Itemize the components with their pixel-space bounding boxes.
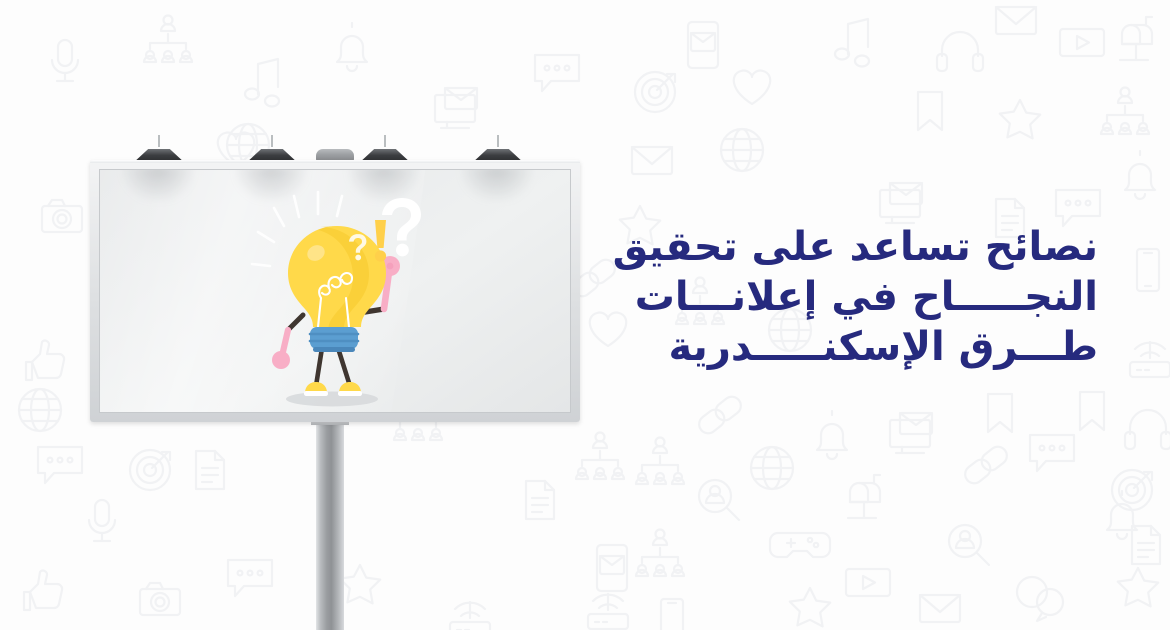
- headline-line-1: نصائح تساعد على تحقيق: [613, 222, 1098, 272]
- headline: نصائح تساعد على تحقيق النجـــــاح في إعل…: [613, 222, 1098, 372]
- mascot-base-band: [310, 327, 358, 352]
- exclamation-mark-icon: [375, 220, 386, 262]
- lamp-glow-1: [123, 169, 193, 200]
- mascot-legs: [316, 348, 350, 386]
- headline-line-3: طـــرق الإسكنـــــدرية: [613, 322, 1098, 372]
- banner-canvas: نصائح تساعد على تحقيق النجـــــاح في إعل…: [0, 0, 1170, 630]
- billboard-post: [316, 420, 344, 630]
- mascot-shadow: [286, 392, 378, 407]
- headline-line-2: النجـــــاح في إعلانـــات: [613, 272, 1098, 322]
- lightbulb-mascot: [250, 190, 425, 415]
- mascot-left-arm: [272, 315, 303, 369]
- question-mark-icon: [382, 198, 421, 256]
- lamp-glow-4: [462, 169, 532, 200]
